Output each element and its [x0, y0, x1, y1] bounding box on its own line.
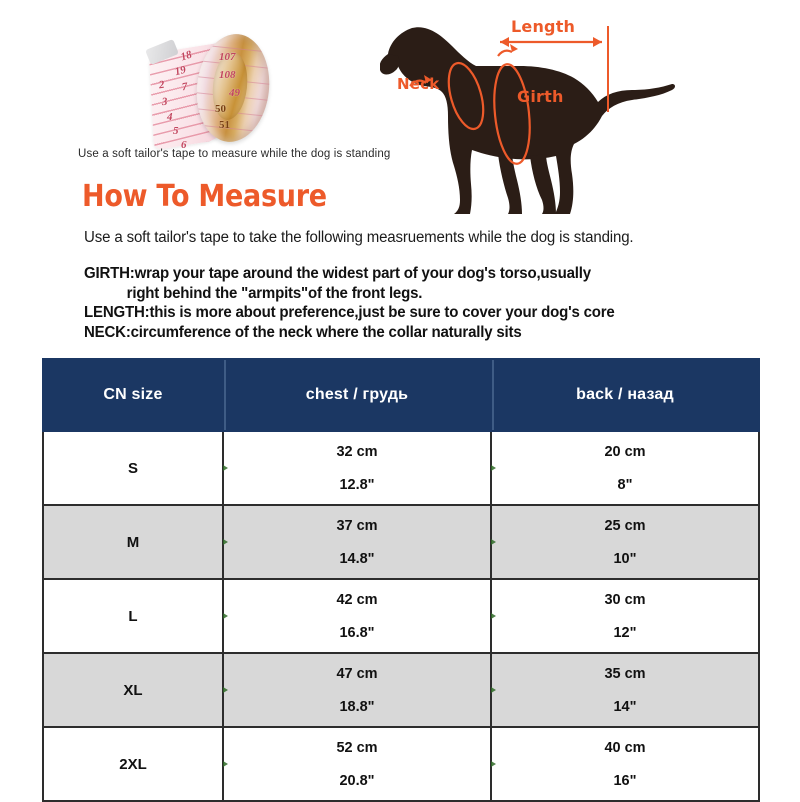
tape-number: 3: [162, 97, 168, 108]
cell-chest: 37 cm 14.8": [223, 505, 491, 579]
column-header-back: back / назад: [491, 359, 759, 431]
size-chart-table: CN size chest / грудь back / назад S 32 …: [42, 358, 760, 802]
green-arrow-icon: [491, 761, 496, 767]
back-cm: 20 cm: [492, 444, 758, 460]
definition-length: LENGTH:this is more about preference,jus…: [84, 303, 753, 323]
chest-cm: 42 cm: [224, 592, 490, 608]
green-arrow-icon: [491, 613, 496, 619]
chest-cm: 32 cm: [224, 444, 490, 460]
measuring-tape-image: 18 19 2 7 3 4 5 6 107 108 49 50 51: [145, 22, 290, 147]
cell-size: 2XL: [43, 727, 223, 801]
chest-cm: 37 cm: [224, 518, 490, 534]
cell-chest: 42 cm 16.8": [223, 579, 491, 653]
girth-label: Girth: [517, 89, 564, 105]
back-cm: 25 cm: [492, 518, 758, 534]
chest-inch: 12.8": [224, 477, 490, 493]
table-header-row: CN size chest / грудь back / назад: [43, 359, 759, 431]
green-arrow-icon: [491, 465, 496, 471]
cell-size: M: [43, 505, 223, 579]
green-arrow-icon: [491, 539, 496, 545]
back-inch: 10": [492, 551, 758, 567]
cell-back: 25 cm 10": [491, 505, 759, 579]
column-header-cn-size: CN size: [43, 359, 223, 431]
cell-size: S: [43, 431, 223, 505]
cell-chest: 47 cm 18.8": [223, 653, 491, 727]
dog-silhouette-shape: [380, 27, 675, 214]
definition-neck: NECK:circumference of the neck where the…: [84, 323, 753, 343]
measurement-definitions: GIRTH:wrap your tape around the widest p…: [84, 264, 753, 342]
back-cm: 40 cm: [492, 740, 758, 756]
green-arrow-icon: [223, 465, 228, 471]
length-label: Length: [511, 19, 575, 35]
definition-girth: GIRTH:wrap your tape around the widest p…: [84, 264, 753, 284]
table-row: L 42 cm 16.8" 30 cm 12": [43, 579, 759, 653]
back-cm: 30 cm: [492, 592, 758, 608]
chest-cm: 52 cm: [224, 740, 490, 756]
tape-number: 108: [219, 70, 236, 81]
tape-number: 2: [158, 80, 165, 92]
tape-number: 7: [181, 82, 188, 94]
green-arrow-icon: [223, 761, 228, 767]
back-cm: 35 cm: [492, 666, 758, 682]
cell-back: 20 cm 8": [491, 431, 759, 505]
tape-number: 107: [219, 52, 236, 63]
tape-number: 49: [229, 88, 240, 99]
chest-inch: 20.8": [224, 773, 490, 789]
chest-inch: 14.8": [224, 551, 490, 567]
cell-chest: 32 cm 12.8": [223, 431, 491, 505]
tape-number: 50: [215, 104, 226, 115]
green-arrow-icon: [491, 687, 496, 693]
column-header-chest: chest / грудь: [223, 359, 491, 431]
back-inch: 12": [492, 625, 758, 641]
intro-text: Use a soft tailor's tape to take the fol…: [84, 229, 633, 247]
definition-girth-continued: right behind the "armpits"of the front l…: [84, 284, 753, 304]
cell-size: XL: [43, 653, 223, 727]
back-inch: 14": [492, 699, 758, 715]
cell-back: 35 cm 14": [491, 653, 759, 727]
dog-diagram: [380, 4, 680, 219]
chest-inch: 16.8": [224, 625, 490, 641]
table-row: M 37 cm 14.8" 25 cm 10": [43, 505, 759, 579]
tape-caption: Use a soft tailor's tape to measure whil…: [78, 148, 408, 160]
green-arrow-icon: [223, 687, 228, 693]
table-row: S 32 cm 12.8" 20 cm 8": [43, 431, 759, 505]
cell-back: 30 cm 12": [491, 579, 759, 653]
cell-back: 40 cm 16": [491, 727, 759, 801]
table-row: XL 47 cm 18.8" 35 cm 14": [43, 653, 759, 727]
cell-size: L: [43, 579, 223, 653]
table-row: 2XL 52 cm 20.8" 40 cm 16": [43, 727, 759, 801]
green-arrow-icon: [223, 539, 228, 545]
tape-number: 5: [173, 126, 179, 137]
tape-number: 4: [167, 112, 173, 123]
tape-number: 51: [219, 120, 230, 131]
green-arrow-icon: [223, 613, 228, 619]
back-inch: 8": [492, 477, 758, 493]
cell-chest: 52 cm 20.8": [223, 727, 491, 801]
chest-cm: 47 cm: [224, 666, 490, 682]
page-title: How To Measure: [82, 182, 327, 212]
neck-label: Neck: [397, 77, 439, 92]
back-inch: 16": [492, 773, 758, 789]
chest-inch: 18.8": [224, 699, 490, 715]
